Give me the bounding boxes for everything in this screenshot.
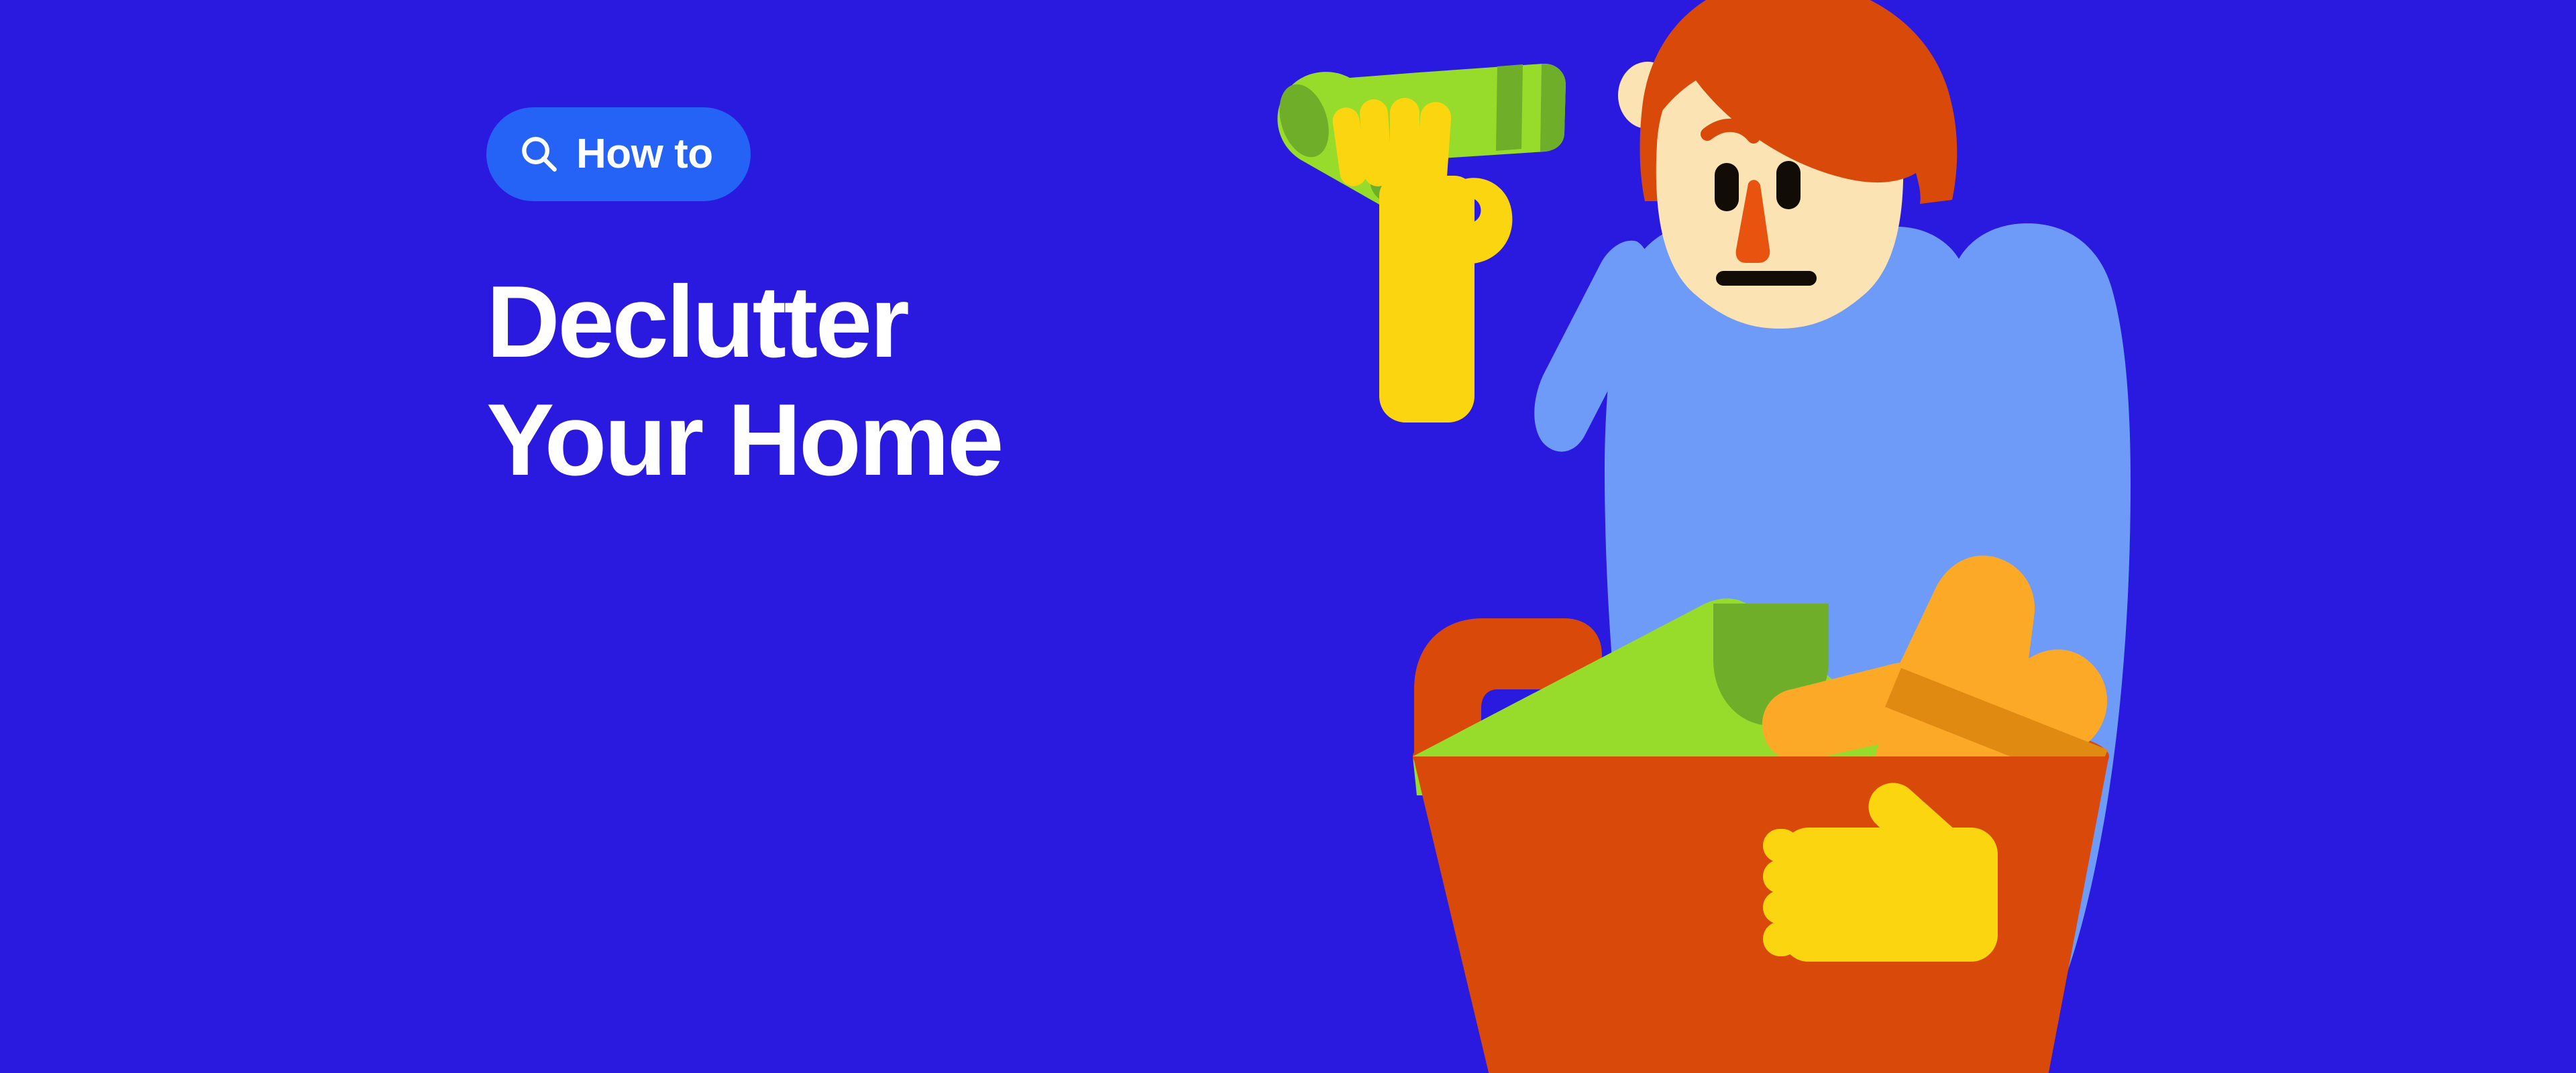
page-title: Declutter Your Home (486, 263, 1002, 500)
text-column: How to Declutter Your Home (486, 0, 1358, 1073)
right-eye (1776, 161, 1801, 209)
mouth (1716, 271, 1817, 286)
search-icon (520, 135, 559, 174)
how-to-label: How to (576, 133, 713, 175)
how-to-badge[interactable]: How to (486, 107, 751, 201)
illustration-person-with-laundry-basket (1261, 0, 2267, 1073)
left-eye (1715, 163, 1739, 211)
hero-banner: How to Declutter Your Home (0, 0, 2576, 1073)
